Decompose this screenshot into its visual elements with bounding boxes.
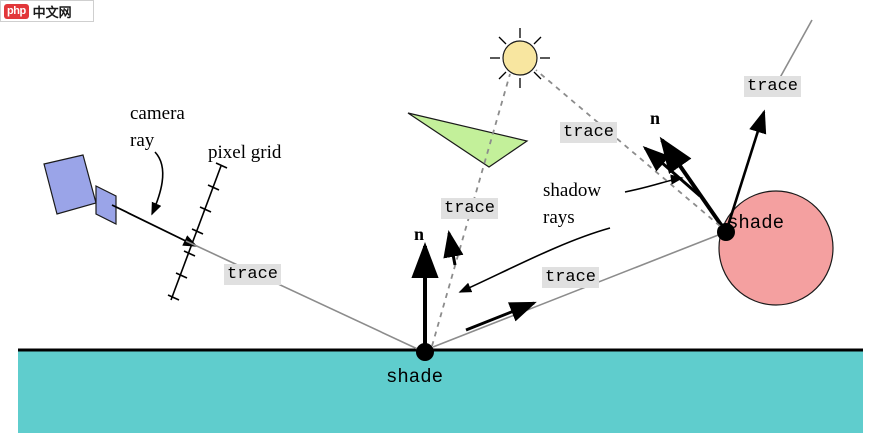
logo-text: 中文网 <box>33 2 72 21</box>
shadow-rays-callout-arrow <box>625 178 682 192</box>
triangle-object <box>408 113 527 167</box>
reflected-ray-arrow <box>466 303 534 330</box>
camera-object <box>44 155 116 224</box>
reflected-ray-to-sphere <box>433 232 726 347</box>
trace-label-camera-ray: trace <box>224 264 281 285</box>
shade-label-ground: shade <box>386 366 443 388</box>
trace-label-ground-shadow: trace <box>441 198 498 219</box>
camera-ray-label-line1: camera <box>130 103 185 125</box>
ground-shadow-ray-arrow <box>449 233 455 265</box>
camera-ray-label-line2: ray <box>130 130 154 152</box>
ground-plane <box>18 350 863 433</box>
trace-label-sphere-reflected: trace <box>744 76 801 97</box>
php-badge: php <box>4 4 29 19</box>
shadow-rays-label-line2: rays <box>543 207 575 229</box>
sphere-shadow-ray <box>536 70 720 226</box>
pixel-grid <box>168 163 227 300</box>
site-logo[interactable]: php 中文网 <box>0 0 94 22</box>
shadow-rays-label-line1: shadow <box>543 180 601 202</box>
normal-label-ground: n <box>414 224 424 245</box>
normal-label-sphere: n <box>650 108 660 129</box>
trace-label-reflected: trace <box>542 267 599 288</box>
pixel-grid-label: pixel grid <box>208 142 281 164</box>
camera-ray-callout-arrow <box>152 152 163 214</box>
light-source-sun <box>490 28 550 88</box>
diagram-canvas: camera ray pixel grid shadow rays trace … <box>0 0 881 441</box>
trace-label-sphere-shadow: trace <box>560 122 617 143</box>
sphere-object <box>719 191 833 305</box>
shade-label-sphere: shade <box>727 212 784 234</box>
